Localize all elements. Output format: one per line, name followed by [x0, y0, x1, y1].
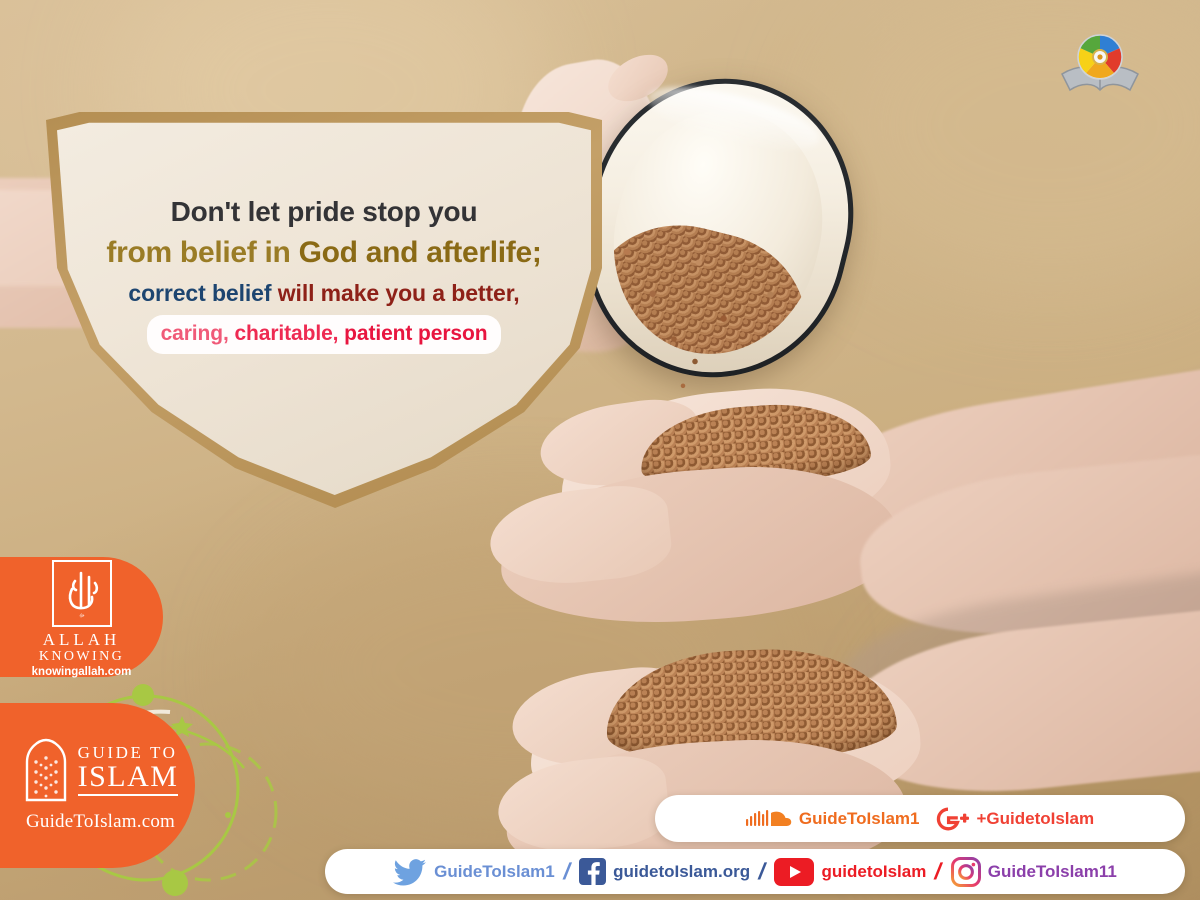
social-separator: / [561, 858, 573, 885]
quote-line-4: caring, charitable, patient person [147, 315, 502, 353]
social-label-instagram: GuideToIslam11 [988, 862, 1117, 882]
globe-book-logo[interactable] [1056, 30, 1144, 96]
guide-to-islam-url[interactable]: GuideToIslam.com [23, 811, 179, 833]
social-label-youtube: guidetoIslam [821, 862, 926, 882]
quote-line-2-part-b: God and afterlife; [299, 236, 542, 269]
quote-line-1: Don't let pride stop you [46, 194, 602, 230]
guide-to-islam-row: GUIDE TO ISLAM [23, 738, 179, 802]
knowing-allah-line2: KNOWING [32, 649, 132, 664]
allah-calligraphy-box: ﷻ [52, 560, 112, 627]
twitter-icon [393, 858, 427, 886]
quote-line-4-part-a: caring, [161, 322, 235, 345]
quote-line-4-wrapper: caring, charitable, patient person [46, 315, 602, 353]
guide-to-islam-line1: GUIDE TO [78, 744, 179, 761]
soundcloud-icon [746, 807, 792, 831]
social-label-googleplus: +GuidetoIslam [976, 809, 1094, 829]
social-link-instagram[interactable]: GuideToIslam11 [951, 857, 1117, 887]
mosque-arch-icon [23, 738, 69, 802]
quote-line-2: from belief in God and afterlife; [46, 233, 602, 272]
facebook-icon [579, 858, 606, 885]
social-bar-bottom: GuideToIslam1 / guidetoIslam.org / guide… [325, 849, 1185, 894]
guide-to-islam-line2: ISLAM [78, 761, 179, 796]
quote-line-4-part-c: patient person [344, 322, 487, 345]
social-label-soundcloud: GuideToIslam1 [799, 809, 920, 829]
guide-to-islam-wordmark: GUIDE TO ISLAM [78, 744, 179, 796]
social-link-facebook[interactable]: guidetoIslam.org [579, 858, 750, 885]
quote-line-3-part-a: correct belief [128, 280, 277, 306]
quote-shield: Don't let pride stop you from belief in … [46, 108, 602, 508]
knowing-allah-url[interactable]: knowingallah.com [32, 666, 132, 678]
instagram-icon [951, 857, 981, 887]
quote-line-4-part-b: charitable, [234, 322, 344, 345]
knowing-allah-line1: ALLAH [32, 631, 132, 649]
youtube-icon [774, 858, 814, 886]
guide-to-islam-logo-panel[interactable]: GUIDE TO ISLAM GuideToIslam.com [0, 703, 195, 868]
knowing-allah-logo: ﷻ ALLAH KNOWING knowingallah.com [32, 556, 132, 678]
knowing-allah-logo-panel[interactable]: ﷻ ALLAH KNOWING knowingallah.com [0, 557, 163, 677]
social-link-googleplus[interactable]: +GuidetoIslam [935, 806, 1094, 832]
quote-line-3-part-b: will make you a better, [278, 280, 520, 306]
social-label-facebook: guidetoIslam.org [613, 862, 750, 882]
allah-calligraphy-icon: ﷻ [59, 567, 105, 619]
social-label-twitter: GuideToIslam1 [434, 862, 555, 882]
quote-line-2-part-a: from belief in [106, 236, 298, 269]
quote-line-3: correct belief will make you a better, [46, 279, 602, 309]
social-link-twitter[interactable]: GuideToIslam1 [393, 858, 555, 886]
social-link-youtube[interactable]: guidetoIslam [774, 858, 926, 886]
google-plus-icon [935, 806, 969, 832]
social-separator: / [756, 858, 768, 885]
guide-to-islam-logo: GUIDE TO ISLAM GuideToIslam.com [17, 738, 179, 833]
social-link-soundcloud[interactable]: GuideToIslam1 [746, 807, 920, 831]
social-separator: / [932, 858, 944, 885]
svg-text:ﷻ: ﷻ [79, 613, 85, 619]
quote-text-block: Don't let pride stop you from belief in … [46, 108, 602, 508]
social-bar-top: GuideToIslam1 +GuidetoIslam [655, 795, 1185, 842]
